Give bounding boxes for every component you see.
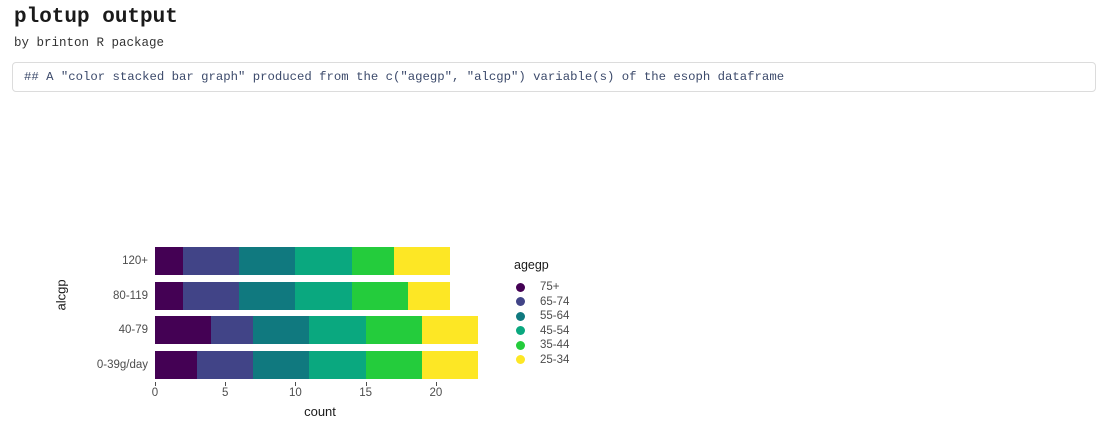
legend-item-label: 35-44 bbox=[540, 339, 569, 351]
x-axis-tick-label: 10 bbox=[289, 387, 302, 399]
legend-color-dot-icon bbox=[516, 355, 525, 364]
bar-segment bbox=[239, 247, 295, 275]
bar-segment bbox=[155, 351, 197, 379]
legend-item[interactable]: 65-74 bbox=[512, 295, 622, 310]
bar-segment bbox=[309, 351, 365, 379]
y-axis-tick-label: 40-79 bbox=[66, 324, 148, 336]
page-byline: by brinton R package bbox=[14, 36, 164, 50]
legend-color-dot-icon bbox=[516, 312, 525, 321]
legend-item[interactable]: 45-54 bbox=[512, 324, 622, 339]
bar-row bbox=[155, 247, 450, 275]
legend-item[interactable]: 55-64 bbox=[512, 309, 622, 324]
bar-segment bbox=[352, 247, 394, 275]
bar-segment bbox=[155, 247, 183, 275]
x-axis-tick-label: 15 bbox=[359, 387, 372, 399]
x-axis-tick-label: 20 bbox=[429, 387, 442, 399]
bar-segment bbox=[197, 351, 253, 379]
bar-segment bbox=[155, 282, 183, 310]
legend-title: agegp bbox=[512, 258, 622, 272]
bar-segment bbox=[211, 316, 253, 344]
legend-item-label: 55-64 bbox=[540, 310, 569, 322]
x-axis-tick bbox=[225, 382, 226, 386]
bar-segment bbox=[295, 247, 351, 275]
bar-segment bbox=[366, 351, 422, 379]
legend-color-dot-icon bbox=[516, 283, 525, 292]
legend-item-label: 75+ bbox=[540, 281, 560, 293]
code-output-text: ## A "color stacked bar graph" produced … bbox=[24, 70, 784, 84]
chart-legend: agegp 75+65-7455-6445-5435-4425-34 bbox=[512, 258, 622, 367]
y-axis-tick-label: 120+ bbox=[66, 255, 148, 267]
x-axis-tick bbox=[155, 382, 156, 386]
y-axis-tick-label: 80-119 bbox=[66, 290, 148, 302]
legend-items: 75+65-7455-6445-5435-4425-34 bbox=[512, 280, 622, 367]
x-axis-tick bbox=[366, 382, 367, 386]
legend-item[interactable]: 35-44 bbox=[512, 338, 622, 353]
bar-segment bbox=[366, 316, 422, 344]
bar-segment bbox=[253, 351, 309, 379]
bar-segment bbox=[352, 282, 408, 310]
legend-item-label: 45-54 bbox=[540, 325, 569, 337]
bar-row bbox=[155, 351, 478, 379]
chart-plot-panel bbox=[155, 244, 485, 382]
bar-segment bbox=[394, 247, 450, 275]
bar-row bbox=[155, 316, 478, 344]
bar-segment bbox=[309, 316, 365, 344]
legend-item-label: 25-34 bbox=[540, 354, 569, 366]
legend-item[interactable]: 25-34 bbox=[512, 353, 622, 368]
bar-segment bbox=[183, 282, 239, 310]
code-output-block: ## A "color stacked bar graph" produced … bbox=[12, 62, 1096, 92]
bar-segment bbox=[422, 316, 478, 344]
bar-segment bbox=[253, 316, 309, 344]
legend-color-dot-icon bbox=[516, 297, 525, 306]
x-axis-tick bbox=[295, 382, 296, 386]
bar-segment bbox=[239, 282, 295, 310]
y-axis-tick-label: 0-39g/day bbox=[66, 359, 148, 371]
x-axis-tick-label: 5 bbox=[222, 387, 228, 399]
x-axis-tick-label: 0 bbox=[152, 387, 158, 399]
legend-item-label: 65-74 bbox=[540, 296, 569, 308]
x-axis: 05101520 bbox=[155, 382, 485, 404]
legend-color-dot-icon bbox=[516, 341, 525, 350]
bar-segment bbox=[183, 247, 239, 275]
legend-item[interactable]: 75+ bbox=[512, 280, 622, 295]
y-axis-tick-labels: 120+80-11940-790-39g/day bbox=[66, 244, 148, 382]
bar-segment bbox=[422, 351, 478, 379]
x-axis-tick bbox=[436, 382, 437, 386]
legend-color-dot-icon bbox=[516, 326, 525, 335]
bar-segment bbox=[408, 282, 450, 310]
bar-segment bbox=[295, 282, 351, 310]
bar-row bbox=[155, 282, 450, 310]
x-axis-title: count bbox=[155, 404, 485, 419]
page-title: plotup output bbox=[14, 6, 178, 29]
bar-segment bbox=[155, 316, 211, 344]
